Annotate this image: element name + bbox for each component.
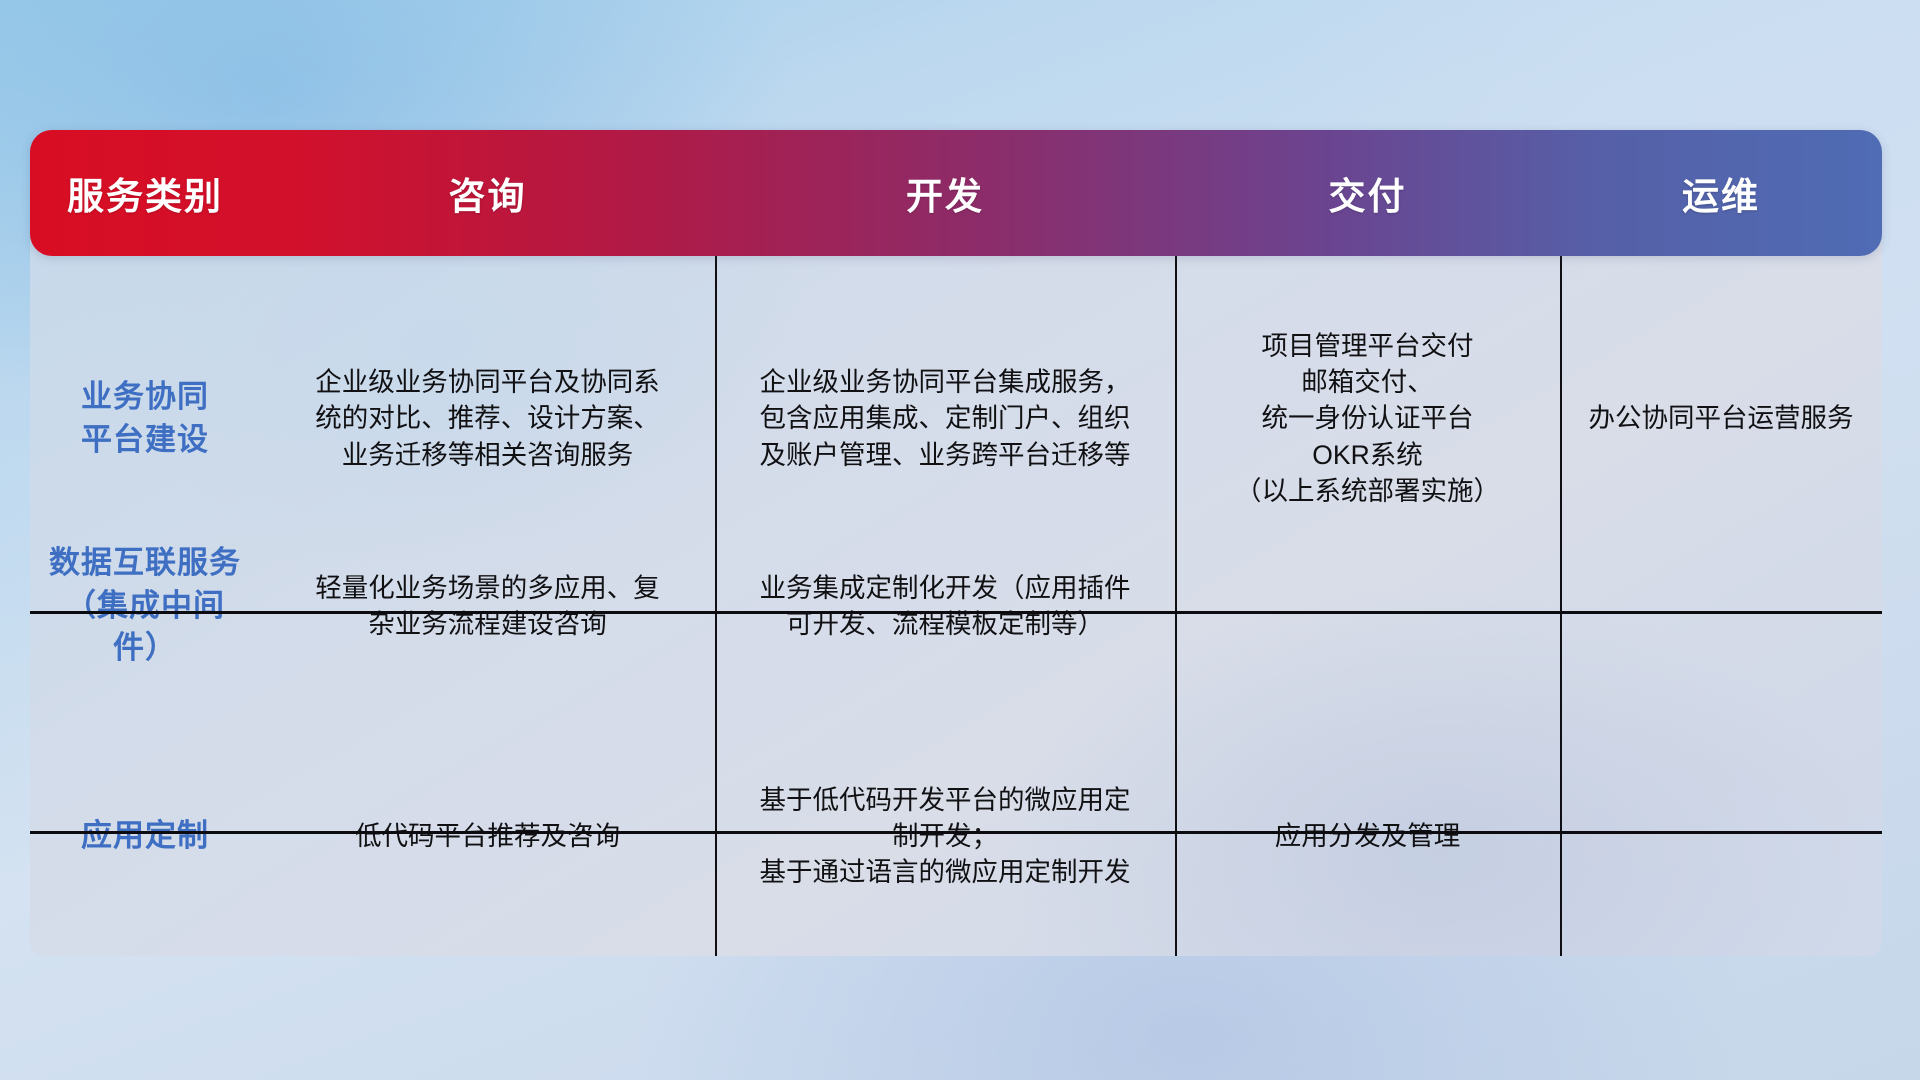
cell-text: 低代码平台推荐及咨询 xyxy=(355,818,620,854)
column-header-label: 咨询 xyxy=(449,166,527,220)
cell-text: 企业级业务协同平台及协同系 统的对比、推荐、设计方案、 业务迁移等相关咨询服务 xyxy=(315,364,660,472)
column-header-delivery: 交付 xyxy=(1175,130,1560,256)
cell-text: 轻量化业务场景的多应用、复 杂业务流程建设咨询 xyxy=(315,570,660,642)
row-category-cell: 业务协同 平台建设 xyxy=(30,341,260,496)
cell-operations: 办公协同平台运营服务 xyxy=(1560,341,1882,496)
cell-operations xyxy=(1560,716,1882,956)
cell-delivery: 项目管理平台交付 邮箱交付、 统一身份认证平台 OKR系统 （以上系统部署实施） xyxy=(1175,341,1560,496)
cell-development: 业务集成定制化开发（应用插件 可开发、流程模板定制等） xyxy=(715,496,1175,716)
cell-text: 企业级业务协同平台集成服务， 包含应用集成、定制门户、组织 及账户管理、业务跨平… xyxy=(760,364,1131,472)
row-category-cell: 应用定制 xyxy=(30,716,260,956)
cell-text: 业务协同 平台建设 xyxy=(81,376,209,462)
cell-text: 应用定制 xyxy=(81,815,209,858)
column-separator-3 xyxy=(1560,226,1562,956)
column-header-label: 交付 xyxy=(1329,166,1407,220)
cell-development: 基于低代码开发平台的微应用定 制开发； 基于通过语言的微应用定制开发 xyxy=(715,716,1175,956)
column-header-consulting: 咨询 xyxy=(260,130,715,256)
cell-text: 数据互联服务 （集成中间件） xyxy=(46,542,244,670)
cell-operations xyxy=(1560,496,1882,716)
row-separator-1 xyxy=(30,611,1882,614)
column-header-label: 开发 xyxy=(906,166,984,220)
cell-development: 企业级业务协同平台集成服务， 包含应用集成、定制门户、组织 及账户管理、业务跨平… xyxy=(715,341,1175,496)
column-header-label: 运维 xyxy=(1682,166,1760,220)
table-row: 应用定制 低代码平台推荐及咨询 基于低代码开发平台的微应用定 制开发； 基于通过… xyxy=(30,716,1882,956)
cell-text: 基于低代码开发平台的微应用定 制开发； 基于通过语言的微应用定制开发 xyxy=(760,782,1131,890)
column-header-label: 服务类别 xyxy=(67,166,223,220)
cell-text: 办公协同平台运营服务 xyxy=(1589,400,1854,436)
column-separator-1 xyxy=(715,226,717,956)
cell-text: 应用分发及管理 xyxy=(1275,818,1461,854)
column-header-operations: 运维 xyxy=(1560,130,1882,256)
cell-text: 业务集成定制化开发（应用插件 可开发、流程模板定制等） xyxy=(760,570,1131,642)
column-header-development: 开发 xyxy=(715,130,1175,256)
table-header-row: 服务类别 咨询 开发 交付 运维 xyxy=(30,130,1882,256)
cell-consulting: 轻量化业务场景的多应用、复 杂业务流程建设咨询 xyxy=(260,496,715,716)
row-category-cell: 数据互联服务 （集成中间件） xyxy=(30,496,260,716)
service-matrix-table: 业务协同 平台建设 企业级业务协同平台及协同系 统的对比、推荐、设计方案、 业务… xyxy=(30,130,1882,956)
column-separator-2 xyxy=(1175,226,1177,956)
row-separator-2 xyxy=(30,831,1882,834)
cell-text: 项目管理平台交付 邮箱交付、 统一身份认证平台 OKR系统 （以上系统部署实施） xyxy=(1235,328,1500,508)
cell-consulting: 企业级业务协同平台及协同系 统的对比、推荐、设计方案、 业务迁移等相关咨询服务 xyxy=(260,341,715,496)
cell-consulting: 低代码平台推荐及咨询 xyxy=(260,716,715,956)
column-header-category: 服务类别 xyxy=(30,130,260,256)
table-body: 业务协同 平台建设 企业级业务协同平台及协同系 统的对比、推荐、设计方案、 业务… xyxy=(30,226,1882,956)
cell-delivery xyxy=(1175,496,1560,716)
table-row: 业务协同 平台建设 企业级业务协同平台及协同系 统的对比、推荐、设计方案、 业务… xyxy=(30,226,1882,496)
cell-delivery: 应用分发及管理 xyxy=(1175,716,1560,956)
table-row: 数据互联服务 （集成中间件） 轻量化业务场景的多应用、复 杂业务流程建设咨询 业… xyxy=(30,496,1882,716)
